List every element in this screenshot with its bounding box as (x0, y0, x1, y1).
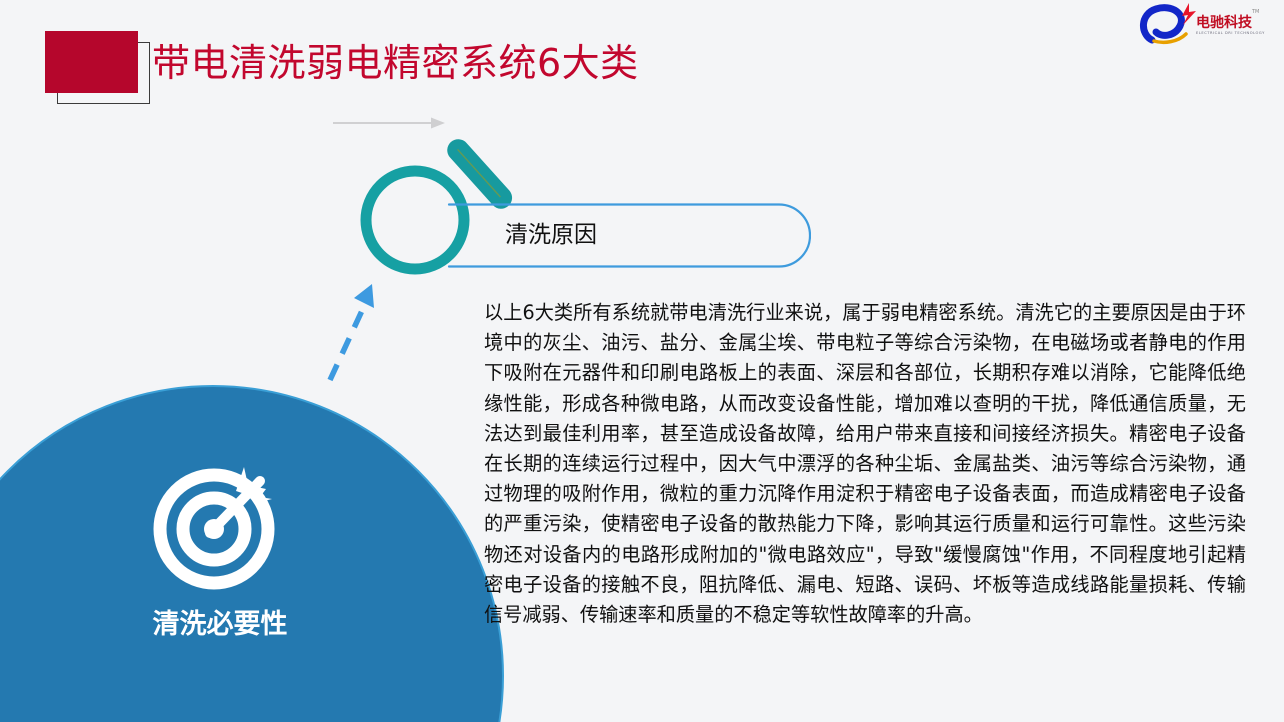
logo-svg: 电驰科技 TM ELECTRICAL DRI TECHNOLOGY (1134, 0, 1284, 46)
body-paragraph: 以上6大类所有系统就带电清洗行业来说，属于弱电精密系统。清洗它的主要原因是由于环… (484, 298, 1246, 630)
body-paragraph-container: 以上6大类所有系统就带电清洗行业来说，属于弱电精密系统。清洗它的主要原因是由于环… (484, 298, 1246, 630)
page-title: 带电清洗弱电精密系统6大类 (152, 38, 639, 88)
title-square-badge (45, 31, 138, 93)
target-icon (152, 455, 288, 591)
callout-pill-outline (443, 203, 811, 268)
logo-english-text: ELECTRICAL DRI TECHNOLOGY (1196, 31, 1265, 35)
logo-trademark: TM (1251, 9, 1259, 15)
company-logo: 电驰科技 TM ELECTRICAL DRI TECHNOLOGY (1134, 0, 1284, 46)
callout-label: 清洗原因 (505, 220, 597, 250)
logo-chinese-text: 电驰科技 (1196, 14, 1253, 31)
necessity-label: 清洗必要性 (0, 607, 440, 643)
slide-canvas: 电驰科技 TM ELECTRICAL DRI TECHNOLOGY 带电清洗弱电… (0, 0, 1284, 722)
dashed-arrow-icon (322, 278, 390, 388)
